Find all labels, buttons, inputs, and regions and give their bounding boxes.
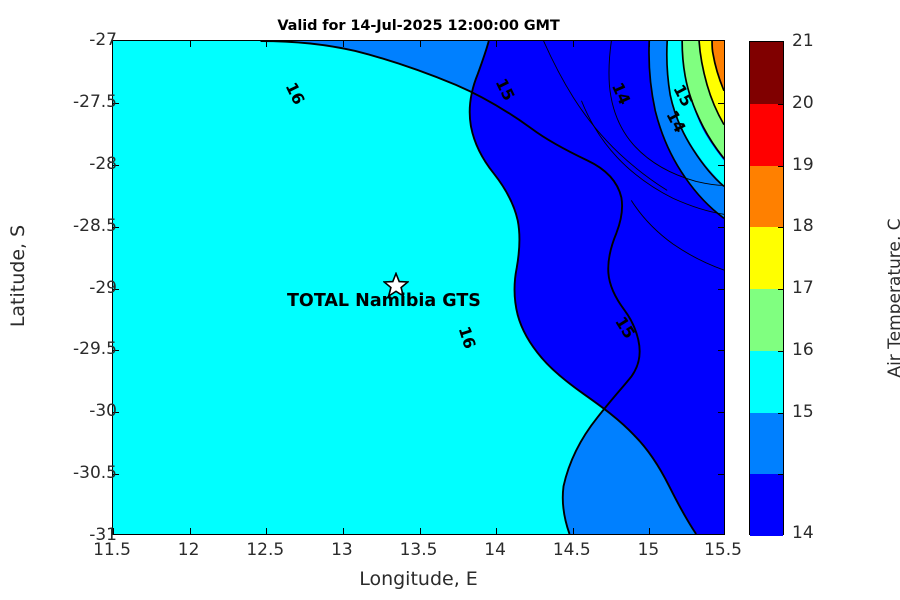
- station-name-label: TOTAL Namibia GTS: [287, 291, 481, 311]
- xtick-mark: [724, 528, 725, 534]
- xtick-mark-top: [496, 41, 497, 47]
- xtick-mark: [420, 528, 421, 534]
- xtick-mark-top: [343, 41, 344, 47]
- colorbar-tick: [778, 227, 784, 228]
- xtick-mark: [496, 528, 497, 534]
- xtick-label: 15: [638, 540, 660, 560]
- ytick-mark-right: [718, 165, 724, 166]
- ytick-label: -28.5: [73, 216, 117, 236]
- colorbar-tick-label: 16: [792, 340, 814, 360]
- ytick-label: -31: [89, 525, 117, 545]
- ytick-mark-right: [718, 474, 724, 475]
- colorbar-band-14-15: [750, 413, 783, 475]
- ytick-mark-right: [718, 103, 724, 104]
- colorbar-band-16-17: [750, 289, 783, 351]
- colorbar-band-17-18: [750, 227, 783, 289]
- xtick-mark: [190, 528, 191, 534]
- xtick-label: 12: [178, 540, 200, 560]
- xtick-label: 15.5: [704, 540, 742, 560]
- colorbar-band-20-21: [750, 42, 783, 104]
- ytick-label: -27.5: [73, 92, 117, 112]
- colorbar-tick-label: 14: [792, 523, 814, 543]
- x-axis-title: Longitude, E: [112, 568, 725, 590]
- xtick-mark: [343, 528, 344, 534]
- colorbar-band-15-16: [750, 351, 783, 413]
- colorbar-tick: [778, 351, 784, 352]
- colorbar-tick-label: 15: [792, 402, 814, 422]
- page-title: Valid for 14-Jul-2025 12:00:00 GMT: [112, 18, 725, 34]
- ytick-label: -30: [89, 401, 117, 421]
- colorbar-tick-label: 18: [792, 216, 814, 236]
- ytick-label: -28: [89, 154, 117, 174]
- xtick-mark-top: [266, 41, 267, 47]
- xtick-label: 14.5: [553, 540, 591, 560]
- ytick-label: -29: [89, 278, 117, 298]
- xtick-label: 12.5: [246, 540, 284, 560]
- colorbar-tick: [778, 166, 784, 167]
- colorbar-tick-label: 17: [792, 278, 814, 298]
- xtick-mark: [266, 528, 267, 534]
- xtick-label: 13.5: [400, 540, 438, 560]
- colorbar-tick: [778, 474, 784, 475]
- xtick-mark: [649, 528, 650, 534]
- colorbar: [749, 41, 784, 535]
- ytick-label: -30.5: [73, 463, 117, 483]
- ytick-mark-right: [718, 227, 724, 228]
- ytick-label: -29.5: [73, 339, 117, 359]
- colorbar-tick-label: 21: [792, 31, 814, 51]
- plot-area: [112, 40, 725, 535]
- xtick-mark: [573, 528, 574, 534]
- xtick-mark-top: [420, 41, 421, 47]
- contour-svg: [113, 41, 724, 534]
- ytick-mark-right: [718, 412, 724, 413]
- ytick-label: -27: [89, 30, 117, 50]
- xtick-label: 14: [484, 540, 506, 560]
- colorbar-band-18-19: [750, 166, 783, 228]
- colorbar-tick-label: 20: [792, 93, 814, 113]
- y-axis-title: Latitude, S: [7, 176, 29, 376]
- colorbar-tick: [778, 289, 784, 290]
- xtick-mark-top: [190, 41, 191, 47]
- air-temperature-contour-plot: Valid for 14-Jul-2025 12:00:00 GMT: [0, 0, 900, 600]
- colorbar-band-13-14: [750, 474, 783, 536]
- ytick-mark-right: [718, 289, 724, 290]
- colorbar-tick: [778, 104, 784, 105]
- xtick-label: 13: [331, 540, 353, 560]
- colorbar-tick: [778, 413, 784, 414]
- xtick-mark-top: [649, 41, 650, 47]
- ytick-mark-right: [718, 350, 724, 351]
- xtick-mark-top: [573, 41, 574, 47]
- colorbar-band-19-20: [750, 104, 783, 166]
- colorbar-title: Air Temperature, C: [885, 148, 900, 448]
- colorbar-tick-label: 19: [792, 155, 814, 175]
